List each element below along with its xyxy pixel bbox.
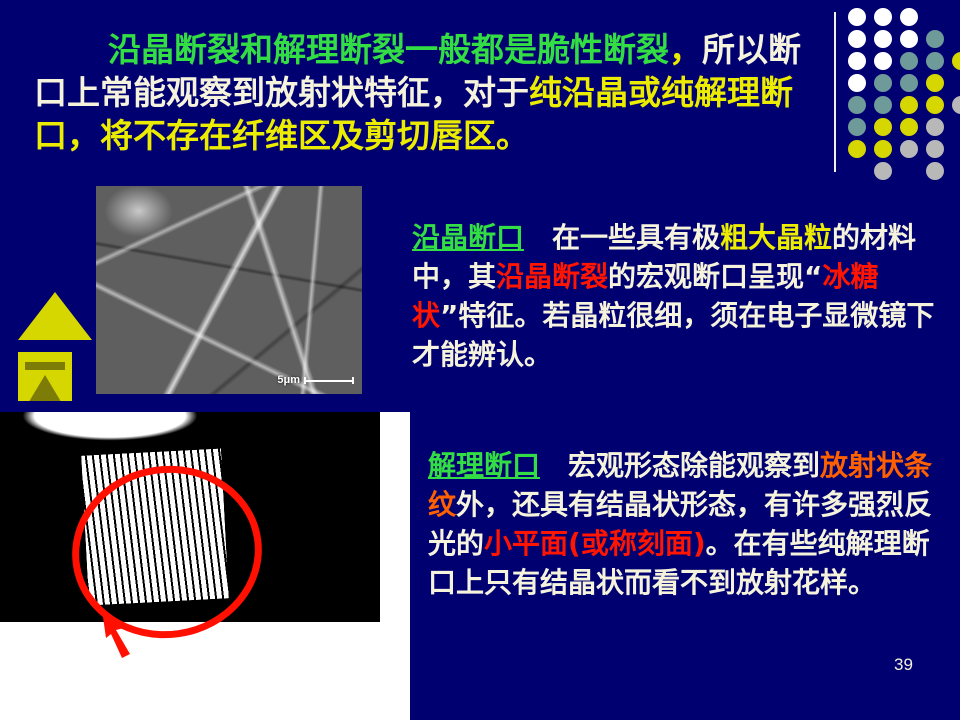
matrix-dot <box>848 52 866 70</box>
matrix-dot <box>874 118 892 136</box>
box-triangle-icon <box>27 375 63 401</box>
page-number: 39 <box>894 655 913 675</box>
matrix-dot <box>874 96 892 114</box>
text-block-intergranular: 沿晶断口 在一些具有极粗大晶粒的材料中，其沿晶断裂的宏观断口呈现“冰糖状”特征。… <box>412 218 942 374</box>
scale-bar-label: 5μm <box>277 374 300 386</box>
header-paragraph: 沿晶断裂和解理断裂一般都是脆性断裂，所以断口上常能观察到放射状特征，对于纯沿晶或… <box>34 28 824 157</box>
matrix-dot <box>874 74 892 92</box>
ig-segment-cream-1: 在一些具有极 <box>524 221 720 254</box>
matrix-dot <box>874 8 892 26</box>
header-segment-comma: ， <box>669 30 702 69</box>
arrow-up-icon <box>18 292 92 340</box>
matrix-dot <box>900 52 918 70</box>
matrix-dot <box>874 162 892 180</box>
ig-segment-cream-4: ”特征。若晶粒很细，须在电子显微镜下才能辨认。 <box>412 299 934 371</box>
matrix-dot <box>900 96 918 114</box>
matrix-dot <box>900 74 918 92</box>
matrix-dot <box>926 140 944 158</box>
matrix-dot <box>874 30 892 48</box>
matrix-dot <box>900 118 918 136</box>
matrix-dot <box>926 118 944 136</box>
matrix-dot <box>900 140 918 158</box>
matrix-dot <box>848 140 866 158</box>
scale-bar-line <box>304 377 354 384</box>
matrix-dot <box>848 96 866 114</box>
vertical-divider <box>834 12 836 172</box>
ig-segment-cream-3: 的宏观断口呈现“ <box>608 260 822 293</box>
matrix-dot <box>952 52 960 70</box>
sem-micrograph-figure: 5μm <box>96 186 362 394</box>
header-segment-green: 沿晶断裂和解理断裂一般都是脆性断裂 <box>108 30 669 69</box>
matrix-dot <box>900 30 918 48</box>
matrix-dot <box>848 74 866 92</box>
matrix-dot <box>926 52 944 70</box>
cl-segment-red: 小平面(或称刻面) <box>484 527 706 560</box>
dot-matrix-decoration <box>848 8 952 168</box>
matrix-dot <box>874 140 892 158</box>
box-bar <box>25 362 65 370</box>
matrix-dot <box>952 96 960 114</box>
matrix-dot <box>926 30 944 48</box>
block-heading-cleavage: 解理断口 <box>428 449 540 482</box>
matrix-dot <box>848 8 866 26</box>
sem-scale-bar: 5μm <box>277 374 354 386</box>
slide-canvas: 沿晶断裂和解理断裂一般都是脆性断裂，所以断口上常能观察到放射状特征，对于纯沿晶或… <box>0 0 960 720</box>
red-arrow-annotation <box>100 608 158 660</box>
matrix-dot <box>848 118 866 136</box>
matrix-dot <box>926 74 944 92</box>
sem-ridge-overlay <box>96 186 362 394</box>
ig-segment-red-1: 沿晶断裂 <box>496 260 608 293</box>
matrix-dot <box>848 30 866 48</box>
block-heading-intergranular: 沿晶断口 <box>412 221 524 254</box>
ig-segment-yellow: 粗大晶粒 <box>720 221 832 254</box>
cl-segment-cream-1: 宏观形态除能观察到 <box>540 449 820 482</box>
matrix-dot <box>926 162 944 180</box>
matrix-dot <box>900 8 918 26</box>
matrix-dot <box>874 52 892 70</box>
decorative-box-shape <box>18 352 72 401</box>
header-segment-yellow-1: 纯沿晶或纯解 <box>529 73 727 112</box>
header-segment-cream-1: 所以 <box>702 30 768 69</box>
matrix-dot <box>926 96 944 114</box>
text-block-cleavage: 解理断口 宏观形态除能观察到放射状条纹外，还具有结晶状形态，有许多强烈反光的小平… <box>428 446 948 602</box>
